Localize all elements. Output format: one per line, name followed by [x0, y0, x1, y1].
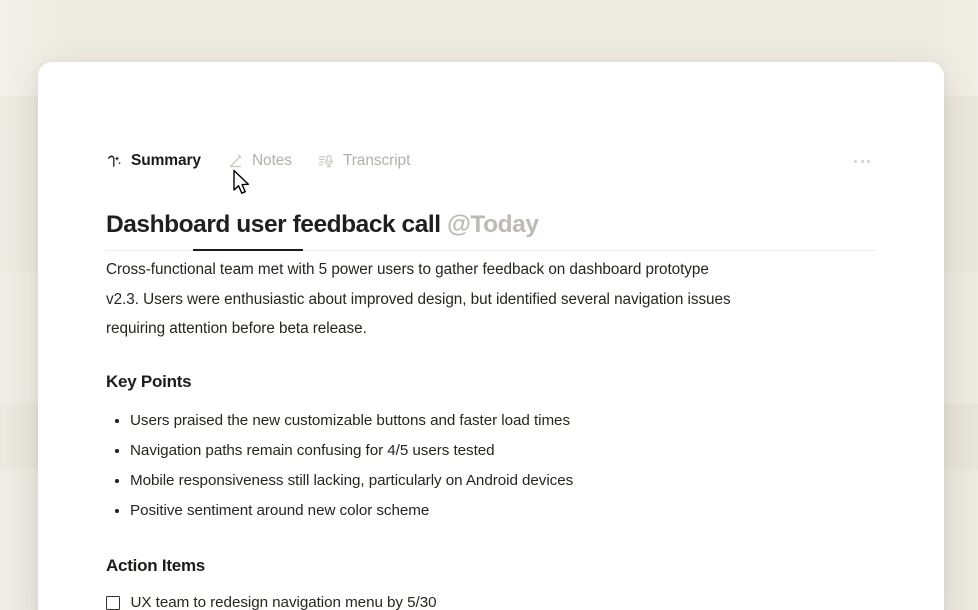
list-item: Mobile responsiveness still lacking, par…	[106, 466, 876, 496]
action-item-row: UX team to redesign navigation menu by 5…	[106, 588, 876, 610]
note-card: Summary Notes	[38, 62, 944, 610]
sparkle-icon	[106, 153, 123, 170]
action-items-heading: Action Items	[106, 556, 876, 576]
ellipsis-dot	[867, 160, 870, 163]
page-title-text: Dashboard user feedback call	[106, 211, 441, 238]
key-points-heading: Key Points	[106, 372, 876, 392]
action-item-label: UX team to redesign navigation menu by 5…	[131, 588, 437, 610]
card-content: Summary Notes	[38, 62, 944, 610]
tab-summary[interactable]: Summary	[106, 146, 201, 176]
list-item: Users praised the new customizable butto…	[106, 406, 876, 436]
tab-notes-label: Notes	[252, 152, 292, 170]
tab-notes[interactable]: Notes	[227, 146, 292, 176]
page-title: Dashboard user feedback call @Today	[106, 210, 876, 239]
more-options-button[interactable]	[850, 152, 874, 171]
list-item: Positive sentiment around new color sche…	[106, 496, 876, 526]
active-tab-indicator	[193, 249, 303, 251]
list-item: Navigation paths remain confusing for 4/…	[106, 436, 876, 466]
ellipsis-dot	[854, 160, 857, 163]
key-points-list: Users praised the new customizable butto…	[106, 406, 876, 526]
microphone-icon	[318, 153, 335, 170]
ellipsis-dot	[861, 160, 864, 163]
action-item-checkbox[interactable]	[106, 596, 120, 610]
page-title-date-tag: @Today	[447, 211, 539, 238]
tab-summary-label: Summary	[131, 152, 201, 170]
action-items-list: UX team to redesign navigation menu by 5…	[106, 588, 876, 610]
tab-bar: Summary Notes	[106, 134, 876, 188]
summary-paragraph: Cross-functional team met with 5 power u…	[106, 255, 731, 344]
tab-transcript-label: Transcript	[343, 152, 410, 170]
tab-transcript[interactable]: Transcript	[318, 146, 410, 176]
pencil-icon	[227, 153, 244, 170]
